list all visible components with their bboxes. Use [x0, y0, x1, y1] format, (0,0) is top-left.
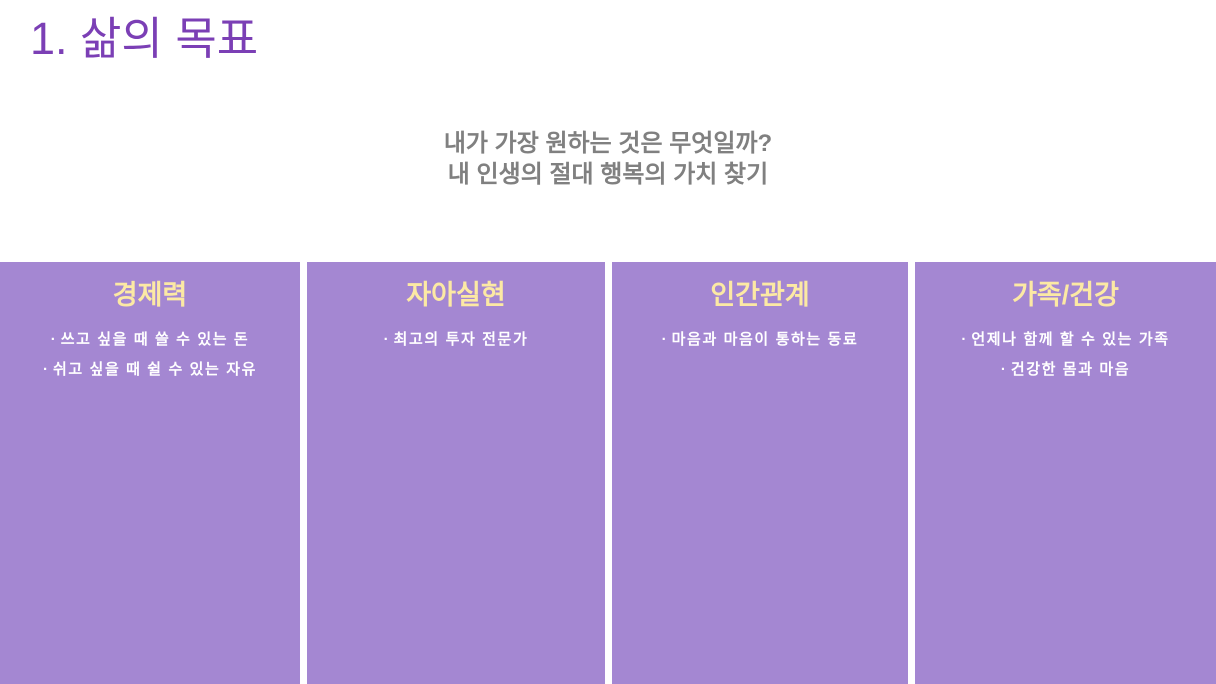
- bullet-item: ·쉬고 싶을 때 쉴 수 있는 자유: [6, 355, 294, 385]
- bullet-item: ·건강한 몸과 마음: [921, 355, 1210, 385]
- subtitle-line-1: 내가 가장 원하는 것은 무엇일까?: [0, 128, 1216, 159]
- column-bullets-relationships: ·마음과 마음이 통하는 동료: [612, 325, 908, 355]
- column-bullets-economy: ·쓰고 싶을 때 쓸 수 있는 돈 ·쉬고 싶을 때 쉴 수 있는 자유: [0, 325, 300, 385]
- bullet-marker: ·: [43, 361, 48, 378]
- bullet-item: ·언제나 함께 할 수 있는 가족: [921, 325, 1210, 355]
- goal-column-relationships[interactable]: 인간관계 ·마음과 마음이 통하는 동료: [612, 262, 908, 684]
- column-heading-relationships: 인간관계: [612, 280, 908, 311]
- bullet-marker: ·: [662, 331, 667, 348]
- subtitle-block: 내가 가장 원하는 것은 무엇일까? 내 인생의 절대 행복의 가치 찾기: [0, 128, 1216, 190]
- column-divider: [605, 262, 612, 684]
- goal-column-self-actualization[interactable]: 자아실현 ·최고의 투자 전문가: [307, 262, 605, 684]
- bullet-text: 쉬고 싶을 때 쉴 수 있는 자유: [53, 361, 257, 378]
- column-heading-economy: 경제력: [0, 280, 300, 311]
- bullet-text: 마음과 마음이 통하는 동료: [672, 331, 859, 348]
- column-heading-family-health: 가족/건강: [915, 280, 1216, 311]
- bullet-marker: ·: [51, 331, 56, 348]
- column-heading-self-actualization: 자아실현: [307, 280, 605, 311]
- bullet-text: 최고의 투자 전문가: [394, 331, 529, 348]
- bullet-marker: ·: [961, 331, 966, 348]
- bullet-marker: ·: [384, 331, 389, 348]
- subtitle-line-2: 내 인생의 절대 행복의 가치 찾기: [0, 159, 1216, 190]
- goal-columns-strip: 경제력 ·쓰고 싶을 때 쓸 수 있는 돈 ·쉬고 싶을 때 쉴 수 있는 자유: [0, 262, 1216, 684]
- page-title: 1. 삶의 목표: [30, 14, 258, 64]
- column-bullets-family-health: ·언제나 함께 할 수 있는 가족 ·건강한 몸과 마음: [915, 325, 1216, 385]
- bullet-item: ·마음과 마음이 통하는 동료: [618, 325, 902, 355]
- bullet-marker: ·: [1001, 361, 1006, 378]
- bullet-item: ·최고의 투자 전문가: [313, 325, 599, 355]
- bullet-text: 쓰고 싶을 때 쓸 수 있는 돈: [61, 331, 250, 348]
- bullet-text: 언제나 함께 할 수 있는 가족: [971, 331, 1169, 348]
- column-divider: [908, 262, 915, 684]
- goal-column-family-health[interactable]: 가족/건강 ·언제나 함께 할 수 있는 가족 ·건강한 몸과 마음: [915, 262, 1216, 684]
- column-divider: [300, 262, 307, 684]
- bullet-item: ·쓰고 싶을 때 쓸 수 있는 돈: [6, 325, 294, 355]
- column-bullets-self-actualization: ·최고의 투자 전문가: [307, 325, 605, 355]
- bullet-text: 건강한 몸과 마음: [1011, 361, 1130, 378]
- goal-column-economy[interactable]: 경제력 ·쓰고 싶을 때 쓸 수 있는 돈 ·쉬고 싶을 때 쉴 수 있는 자유: [0, 262, 300, 684]
